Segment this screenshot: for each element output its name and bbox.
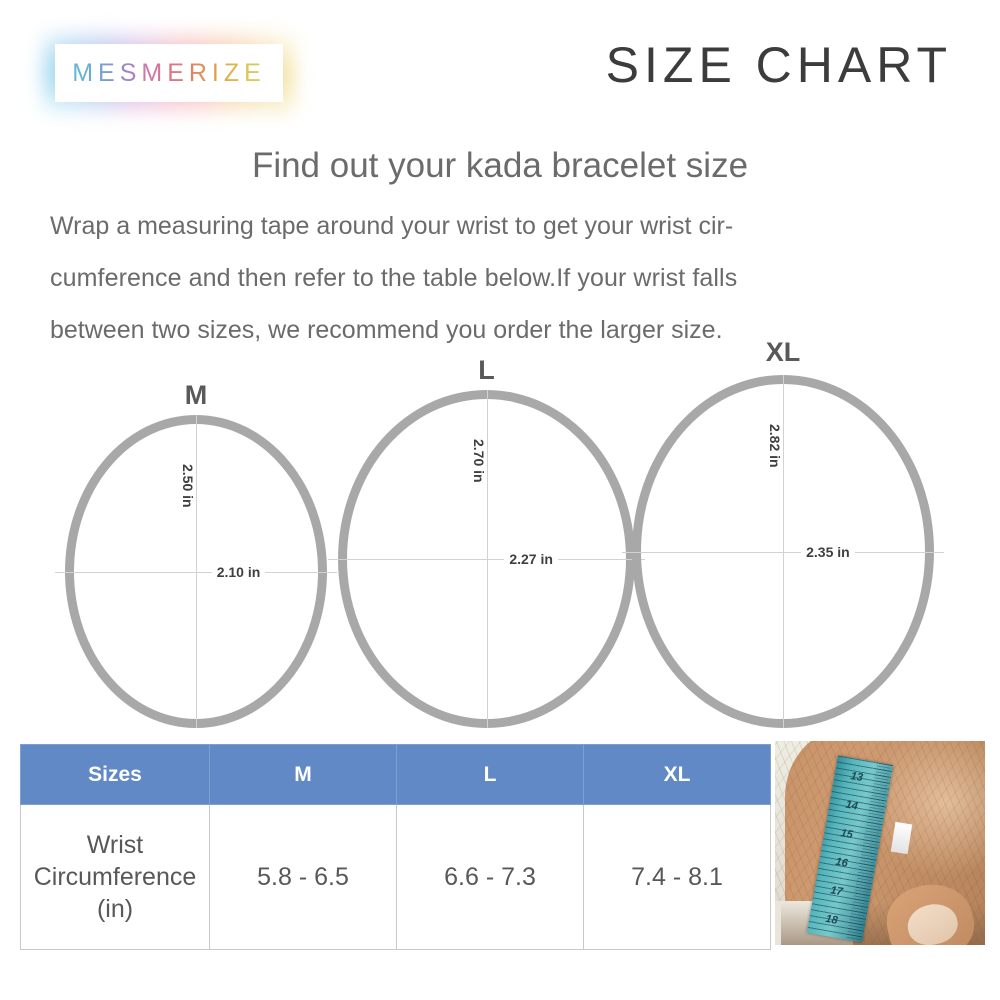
diagram-height-xl: 2.82 in xyxy=(767,422,783,470)
size-table: Sizes M L XL Wrist Circumference (in) 5.… xyxy=(20,744,771,950)
tape-number-13: 13 xyxy=(850,770,864,784)
diagram-width-m: 2.10 in xyxy=(212,564,266,580)
tape-number-15: 15 xyxy=(840,827,854,841)
table-row: Wrist Circumference (in) 5.8 - 6.5 6.6 -… xyxy=(21,805,771,950)
intro-line-1: Wrap a measuring tape around your wrist … xyxy=(50,200,958,252)
logo-box: MESMERIZE xyxy=(55,44,283,102)
oval-axis-horizontal-l xyxy=(328,559,645,560)
bracelet-diagram-xl: XL 2.82 in 2.35 in xyxy=(632,375,934,728)
headline: Find out your kada bracelet size xyxy=(0,146,1000,186)
tape-number-18: 18 xyxy=(824,913,838,927)
tape-number-16: 16 xyxy=(835,856,849,870)
thumbnail xyxy=(904,900,961,945)
table-header-m: M xyxy=(210,745,397,805)
tape-number-14: 14 xyxy=(845,799,859,813)
bracelet-diagram-m: M 2.50 in 2.10 in xyxy=(65,415,327,728)
bracelet-diagrams: M 2.50 in 2.10 in L 2.70 in 2.27 in XL 2… xyxy=(0,340,1000,740)
table-header-sizes: Sizes xyxy=(21,745,210,805)
logo-text: MESMERIZE xyxy=(72,59,266,88)
bracelet-diagram-l: L 2.70 in 2.27 in xyxy=(338,390,635,728)
page-title: SIZE CHART xyxy=(606,36,952,94)
table-header-l: L xyxy=(397,745,584,805)
brand-logo: MESMERIZE xyxy=(55,44,283,102)
tape-number-17: 17 xyxy=(829,884,843,898)
row-label-line-2: Circumference xyxy=(34,863,197,891)
oval-axis-horizontal-m xyxy=(55,572,337,573)
diagram-width-l: 2.27 in xyxy=(504,551,558,567)
diagram-label-l: L xyxy=(478,355,495,386)
diagram-label-m: M xyxy=(185,380,208,411)
row-label-line-1: Wrist xyxy=(87,831,143,859)
row-label-wrist-circumference: Wrist Circumference (in) xyxy=(21,805,210,950)
photo-content: 13 14 15 16 17 18 xyxy=(775,741,985,945)
intro-line-2: cumference and then refer to the table b… xyxy=(50,252,958,304)
diagram-height-m: 2.50 in xyxy=(180,462,196,510)
diagram-width-xl: 2.35 in xyxy=(801,544,855,560)
diagram-label-xl: XL xyxy=(766,337,801,368)
intro-paragraph: Wrap a measuring tape around your wrist … xyxy=(50,200,958,356)
table-header-row: Sizes M L XL xyxy=(21,745,771,805)
diagram-height-l: 2.70 in xyxy=(471,437,487,485)
row-label-line-3: (in) xyxy=(97,895,133,923)
cell-wrist-m: 5.8 - 6.5 xyxy=(210,805,397,950)
table-header-xl: XL xyxy=(584,745,771,805)
oval-axis-horizontal-xl xyxy=(622,552,944,553)
wrist-measurement-photo: 13 14 15 16 17 18 xyxy=(775,741,985,945)
cell-wrist-l: 6.6 - 7.3 xyxy=(397,805,584,950)
cell-wrist-xl: 7.4 - 8.1 xyxy=(584,805,771,950)
